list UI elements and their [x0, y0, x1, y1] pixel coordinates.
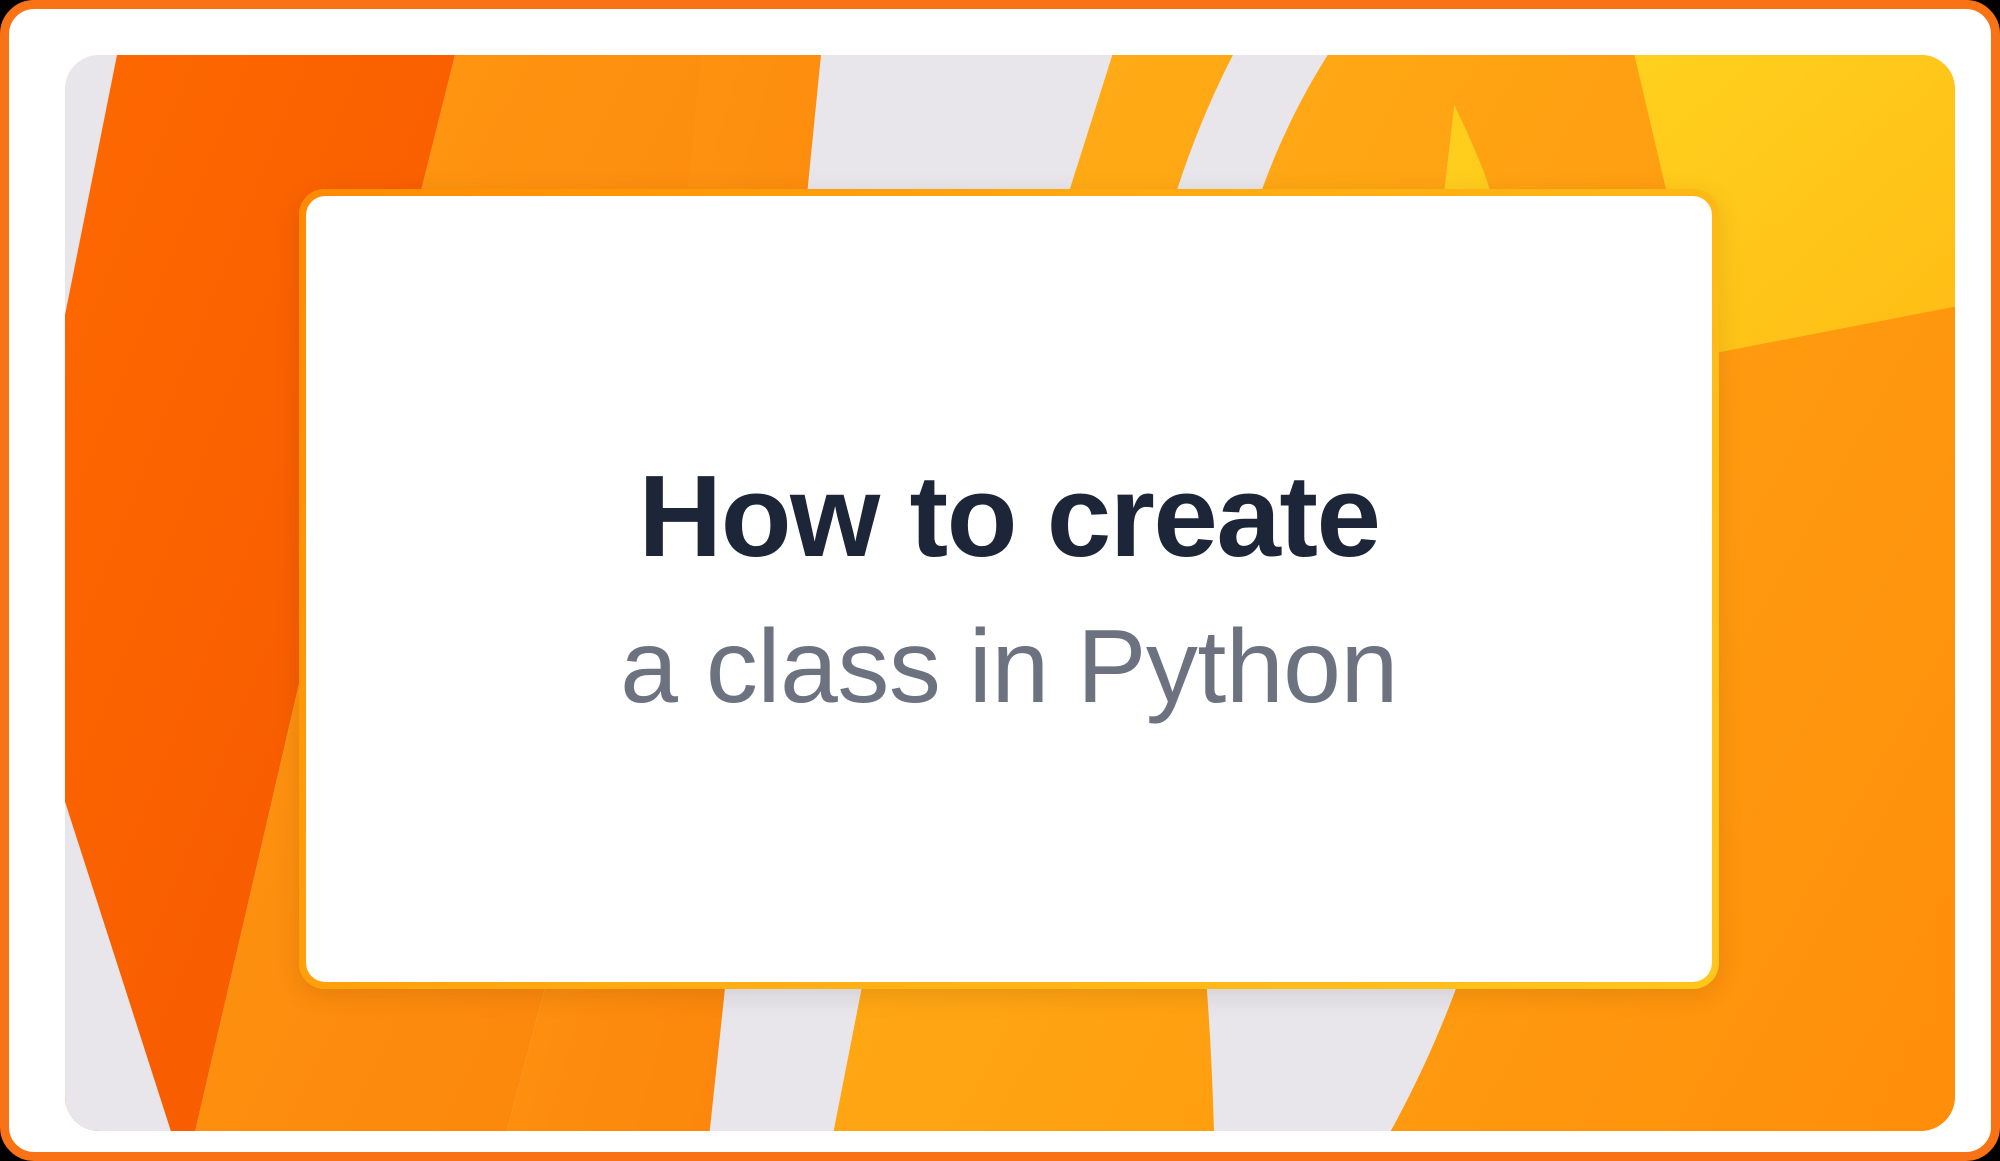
page-title: How to create: [638, 456, 1379, 578]
content-card: How to create a class in Python: [299, 189, 1719, 989]
page-subtitle: a class in Python: [620, 613, 1398, 722]
outer-frame: How to create a class in Python: [0, 0, 2000, 1161]
